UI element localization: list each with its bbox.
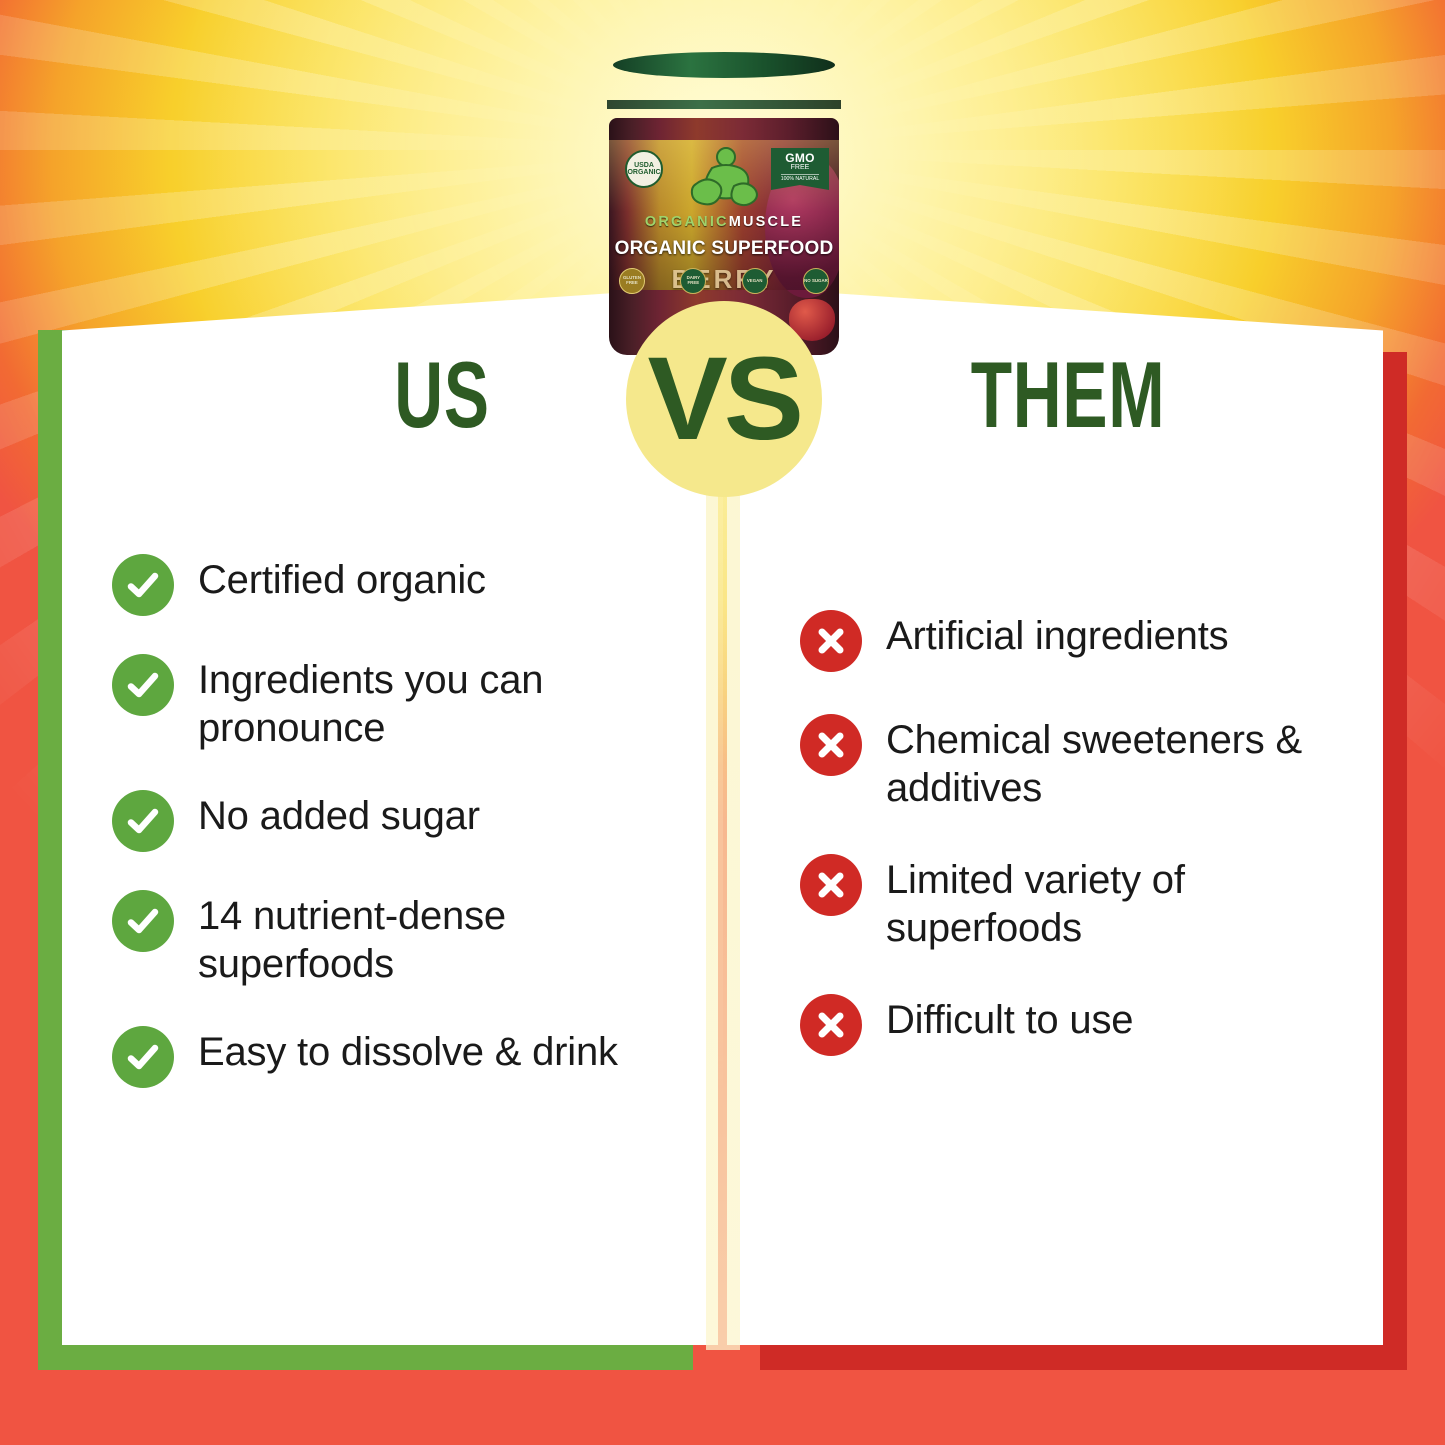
- vs-badge: VS: [626, 301, 822, 497]
- them-drawback-list: Artificial ingredients Chemical sweetene…: [800, 608, 1320, 1096]
- muscle-leaf-logo: [682, 146, 766, 212]
- list-item: 14 nutrient-dense superfoods: [112, 888, 672, 988]
- list-item-label: Limited variety of superfoods: [886, 852, 1306, 952]
- certification-badges: GLUTEN FREE DAIRY FREE VEGAN NO SUGAR: [619, 268, 829, 294]
- check-circle-icon: [112, 554, 174, 616]
- usda-organic-seal: USDA ORGANIC: [625, 150, 663, 188]
- badge-dairy-free: DAIRY FREE: [680, 268, 706, 294]
- badge-no-sugar: NO SUGAR: [803, 268, 829, 294]
- badge-gluten-free: GLUTEN FREE: [619, 268, 645, 294]
- list-item: Ingredients you can pronounce: [112, 652, 672, 752]
- list-item-label: 14 nutrient-dense superfoods: [198, 888, 668, 988]
- list-item-label: Certified organic: [198, 552, 486, 604]
- list-item-label: No added sugar: [198, 788, 480, 840]
- product-name: ORGANIC SUPERFOOD: [609, 238, 839, 260]
- list-item: No added sugar: [112, 788, 672, 852]
- check-circle-icon: [112, 890, 174, 952]
- list-item-label: Difficult to use: [886, 992, 1133, 1044]
- gmo-seal-line1: GMO: [785, 152, 815, 164]
- check-circle-icon: [112, 1026, 174, 1088]
- list-item: Difficult to use: [800, 992, 1320, 1056]
- usda-seal-line2: ORGANIC: [627, 169, 660, 176]
- list-item-label: Ingredients you can pronounce: [198, 652, 668, 752]
- badge-vegan: VEGAN: [742, 268, 768, 294]
- check-circle-icon: [112, 790, 174, 852]
- list-item: Easy to dissolve & drink: [112, 1024, 672, 1088]
- list-item: Limited variety of superfoods: [800, 852, 1320, 952]
- vs-label: VS: [648, 340, 800, 458]
- gmo-seal-line3: 100% NATURAL: [781, 174, 820, 182]
- list-item-label: Artificial ingredients: [886, 608, 1228, 660]
- list-item: Chemical sweeteners & additives: [800, 712, 1320, 812]
- brand-suffix: MUSCLE: [729, 214, 803, 230]
- panel-divider: [706, 470, 740, 1350]
- brand-name: ORGANICMUSCLE: [609, 214, 839, 230]
- usda-seal-line1: USDA: [634, 162, 654, 169]
- gmo-free-seal: GMO FREE 100% NATURAL: [771, 148, 829, 190]
- check-circle-icon: [112, 654, 174, 716]
- gmo-seal-line2: FREE: [791, 164, 810, 172]
- x-circle-icon: [800, 854, 862, 916]
- x-circle-icon: [800, 714, 862, 776]
- them-heading: THEM: [866, 348, 1269, 442]
- x-circle-icon: [800, 994, 862, 1056]
- list-item: Certified organic: [112, 552, 672, 616]
- jar-lid-seam: [607, 100, 841, 109]
- us-benefit-list: Certified organic Ingredients you can pr…: [112, 552, 672, 1124]
- list-item-label: Easy to dissolve & drink: [198, 1024, 618, 1076]
- us-heading: US: [312, 348, 571, 442]
- list-item: Artificial ingredients: [800, 608, 1320, 672]
- x-circle-icon: [800, 610, 862, 672]
- infographic-canvas: USDA ORGANIC GMO FREE 100% NATURAL ORGAN…: [0, 0, 1445, 1445]
- jar-lid-top: [613, 52, 835, 78]
- list-item-label: Chemical sweeteners & additives: [886, 712, 1306, 812]
- brand-prefix: ORGANIC: [645, 214, 729, 230]
